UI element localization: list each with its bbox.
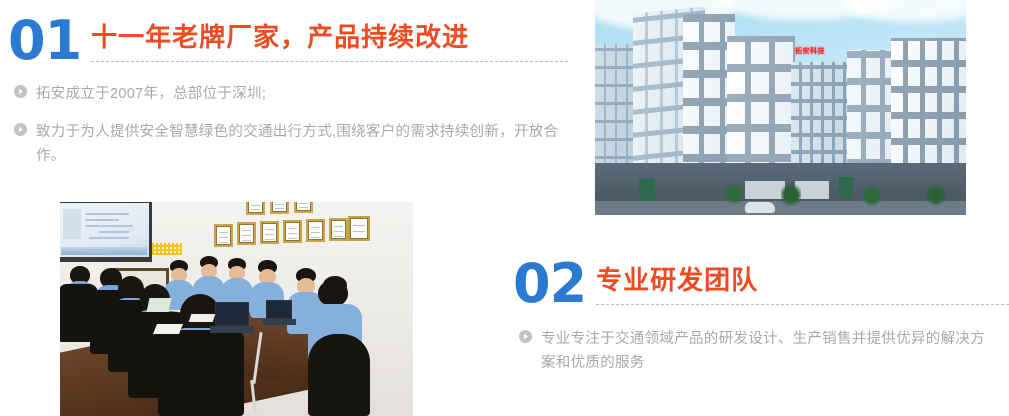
list-item: 致力于为人提供安全智慧绿色的交通出行方式,围绕客户的需求持续创新，开放合作。	[14, 120, 568, 168]
section-01-divider	[91, 61, 568, 62]
certificate-frame	[329, 218, 348, 241]
parked-car	[745, 202, 775, 213]
laptop-base	[262, 319, 296, 325]
building-roof-sign: 拓安科技	[795, 46, 825, 56]
arrow-circle-icon	[14, 85, 27, 103]
certificate-frame	[283, 220, 302, 243]
section-02: 02 专业研发团队 专业专注于交通领域产品的研发设计、生产销售并提供优异的解决方…	[513, 259, 1009, 389]
section-02-number: 02	[513, 259, 586, 309]
laptop-screen	[266, 300, 292, 319]
section-01-title: 十一年老牌厂家，产品持续改进	[91, 20, 568, 54]
arrow-circle-icon	[519, 330, 532, 348]
section-02-bullets: 专业专注于交通领域产品的研发设计、生产销售并提供优异的解决方案和优质的服务	[519, 327, 1001, 375]
certificate-frame	[260, 221, 279, 244]
arrow-circle-icon	[14, 123, 27, 141]
building-center	[727, 36, 795, 184]
certificate-frame	[214, 224, 233, 247]
tree	[863, 183, 881, 209]
tree	[725, 181, 743, 207]
paper-document	[153, 324, 183, 334]
chair	[308, 334, 370, 416]
tree	[925, 183, 947, 207]
certificate-frame	[306, 219, 325, 242]
certificate-frame	[348, 216, 370, 241]
window-ground	[745, 181, 785, 199]
paper-document	[189, 314, 216, 322]
section-02-header: 02 专业研发团队	[513, 259, 1009, 309]
meeting-room-photo	[60, 202, 413, 416]
list-item-label: 拓安成立于2007年，总部位于深圳;	[36, 82, 266, 106]
laptop-base	[210, 326, 254, 333]
window-grid	[727, 36, 795, 184]
chair	[158, 330, 244, 416]
certificate-frame	[270, 202, 289, 214]
entrance-door	[839, 177, 853, 197]
projector-screen	[60, 202, 152, 262]
promo-page: 01 十一年老牌厂家，产品持续改进 拓安成立于2007年，总部位于深圳;	[0, 0, 1009, 416]
yellow-mesh-accent	[152, 243, 182, 255]
section-02-divider	[596, 304, 1009, 305]
laptop-screen	[215, 302, 249, 326]
section-01: 01 十一年老牌厂家，产品持续改进 拓安成立于2007年，总部位于深圳;	[8, 16, 568, 182]
certificate-frame	[246, 202, 265, 215]
section-01-header: 01 十一年老牌厂家，产品持续改进	[8, 16, 568, 66]
list-item-label: 专业专注于交通领域产品的研发设计、生产销售并提供优异的解决方案和优质的服务	[541, 327, 996, 375]
list-item-label: 致力于为人提供安全智慧绿色的交通出行方式,围绕客户的需求持续创新，开放合作。	[36, 120, 568, 168]
entrance-door	[639, 179, 655, 201]
tree	[781, 181, 801, 209]
list-item: 专业专注于交通领域产品的研发设计、生产销售并提供优异的解决方案和优质的服务	[519, 327, 1001, 375]
section-01-number: 01	[8, 16, 81, 66]
section-02-title: 专业研发团队	[596, 263, 1009, 297]
certificate-frame	[294, 202, 313, 213]
section-01-bullets: 拓安成立于2007年，总部位于深圳; 致力于为人提供安全智慧绿色的交通出行方式,…	[14, 82, 568, 168]
certificate-frame	[237, 222, 256, 245]
paper-folder	[147, 298, 172, 312]
list-item: 拓安成立于2007年，总部位于深圳;	[14, 82, 568, 106]
building-photo: 拓安科技	[595, 0, 966, 215]
